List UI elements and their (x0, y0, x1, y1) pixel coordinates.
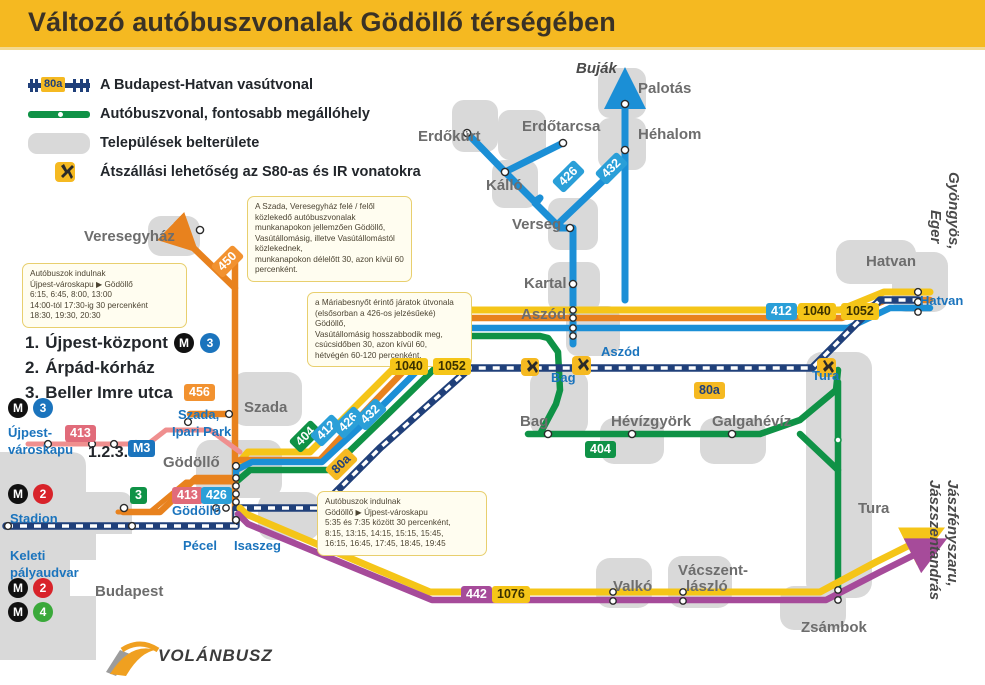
town-label: Héhalom (638, 126, 701, 143)
misc-label: 1.2.3. (88, 444, 128, 462)
route-badge-413[interactable]: 413 (65, 425, 96, 442)
transfer-icon (55, 162, 75, 182)
destination-label: Gyöngyös, (945, 172, 962, 250)
town-label: Veresegyház (84, 228, 175, 245)
route-badge-80a[interactable]: 80a (694, 382, 725, 399)
note-departures-ujpest: Autóbuszok indulnak Újpest-városkapu ▶ G… (22, 263, 187, 328)
bus-line-key (28, 103, 90, 125)
destination-label: Eger (927, 210, 944, 243)
legend-row-bus: Autóbuszvonal, fontosabb megállóhely (28, 101, 421, 127)
legend-label-rail: A Budapest-Hatvan vasútvonal (100, 77, 313, 93)
station-label: Bag (551, 370, 576, 385)
transfer-key (28, 161, 90, 183)
route-badge-1076[interactable]: 1076 (492, 586, 530, 603)
metro-logo-icon: M (174, 333, 194, 353)
station-label: Hatvan (920, 293, 963, 308)
station-label: Aszód (601, 344, 640, 359)
destination-label: Jászszentandrás (926, 480, 943, 600)
route-badge-413[interactable]: 413 (172, 487, 203, 504)
legend-label-transfer: Átszállási lehetőség az S80-as és IR von… (100, 164, 421, 180)
town-label: Kartal (524, 275, 567, 292)
bus-stop-icon (57, 111, 64, 118)
route-badge-1052[interactable]: 1052 (841, 303, 879, 320)
town-label: Galgahévíz (712, 413, 791, 430)
town-label: lászló (686, 578, 728, 595)
town-label: Szada (244, 399, 287, 416)
stop-label-3: Beller Imre utca (45, 383, 173, 403)
station-label: Újpest- (8, 425, 52, 440)
legend-row-settlement: Települések belterülete (28, 130, 421, 156)
town-label: Hatvan (866, 253, 916, 270)
town-label: Bag (520, 413, 548, 430)
route-badge-3[interactable]: 3 (130, 487, 147, 504)
town-label: Erdőkürt (418, 128, 481, 145)
route-badge-1040[interactable]: 1040 (798, 303, 836, 320)
rail-line-key: 80a (28, 74, 90, 96)
stop-number-2: 2. (25, 358, 39, 378)
town-label: Tura (858, 500, 889, 517)
station-label: Isaszeg (234, 538, 281, 553)
station-label: Pécel (183, 538, 217, 553)
route-badge-M3[interactable]: M3 (128, 440, 155, 457)
stop-label-1: Újpest-központ (45, 333, 168, 353)
town-label: Budapest (95, 583, 163, 600)
note-mariabesnyo: a Máriabesnyőt érintő járatok útvonala (… (307, 292, 472, 367)
town-label: Valkó (613, 578, 652, 595)
legend-label-settlement: Települések belterülete (100, 135, 259, 151)
route-badge-426[interactable]: 426 (201, 487, 232, 504)
route-badge-1040[interactable]: 1040 (390, 358, 428, 375)
metro-line-badge: 2 (33, 578, 53, 598)
legend-badge-80a: 80a (41, 77, 65, 92)
metro-line-badge: 2 (33, 484, 53, 504)
town-label: Palotás (638, 80, 691, 97)
metro-logo-icon: M (8, 602, 28, 622)
metro-line-badge: 4 (33, 602, 53, 622)
route-badge-456[interactable]: 456 (184, 384, 215, 401)
town-label: Vácszent- (678, 562, 748, 579)
station-label: Szada, (178, 407, 219, 422)
destination-label: Buják (576, 60, 617, 77)
route-badge-404[interactable]: 404 (585, 441, 616, 458)
legend-row-rail: 80a A Budapest-Hatvan vasútvonal (28, 72, 421, 98)
note-szada-veresegyhaz: A Szada, Veresegyház felé / felől közlek… (247, 196, 412, 282)
legend: 80a A Budapest-Hatvan vasútvonal Autóbus… (28, 72, 421, 188)
note-departures-godollo: Autóbuszok indulnak Gödöllő ▶ Újpest-vár… (317, 491, 487, 556)
station-label: városkapu (8, 442, 73, 457)
station-label: Ipari Park (172, 424, 231, 439)
town-label: Hévízgyörk (611, 413, 691, 430)
town-label: Verseg (512, 216, 561, 233)
route-badge-442[interactable]: 442 (461, 586, 492, 603)
town-label: Gödöllő (163, 454, 220, 471)
settlement-area-key (28, 132, 90, 154)
metro-line-badge: 3 (33, 398, 53, 418)
destination-label: Jászfényszaru, (944, 480, 961, 587)
metro-line-3-badge: 3 (200, 333, 220, 353)
station-label: Keleti (10, 548, 45, 563)
town-label: Zsámbok (801, 619, 867, 636)
station-label: Stadion (10, 511, 58, 526)
metro-logo-icon: M (8, 398, 28, 418)
legend-row-transfer: Átszállási lehetőség az S80-as és IR von… (28, 159, 421, 185)
town-label: Erdőtarcsa (522, 118, 600, 135)
town-label: Aszód (521, 306, 566, 323)
logo-wordmark: VOLÁNBUSZ (158, 646, 273, 666)
route-badge-412[interactable]: 412 (766, 303, 797, 320)
route-badge-1052[interactable]: 1052 (433, 358, 471, 375)
stop-list-item-2: 2. Árpád-kórház (25, 355, 220, 380)
volanbusz-logo: VOLÁNBUSZ (100, 636, 300, 680)
metro-logo-icon: M (8, 484, 28, 504)
station-label: Tura (812, 368, 839, 383)
station-label: Gödöllő (172, 503, 221, 518)
stop-number-1: 1. (25, 333, 39, 353)
town-label: Kálló (486, 177, 523, 194)
metro-logo-icon: M (8, 578, 28, 598)
stop-label-2: Árpád-kórház (45, 358, 155, 378)
legend-label-bus: Autóbuszvonal, fontosabb megállóhely (100, 106, 370, 122)
map-poster: Változó autóbuszvonalak Gödöllő térségéb… (0, 0, 985, 685)
stop-list-item-1: 1. Újpest-központ M 3 (25, 330, 220, 355)
